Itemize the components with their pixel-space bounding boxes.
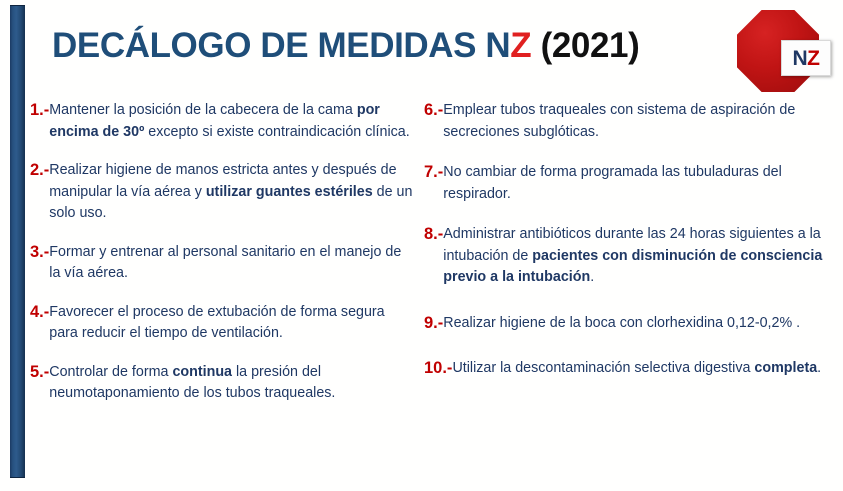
measure-item: 4.-Favorecer el proceso de extubación de… bbox=[30, 302, 415, 345]
measure-text: No cambiar de forma programada las tubul… bbox=[443, 162, 832, 205]
measure-text-plain: . bbox=[590, 269, 594, 285]
measure-text: Formar y entrenar al personal sanitario … bbox=[49, 242, 415, 285]
measure-text: Mantener la posición de la cabecera de l… bbox=[49, 100, 415, 143]
page-title: DECÁLOGO DE MEDIDAS NZ (2021) bbox=[52, 26, 639, 66]
measure-number: 7.- bbox=[424, 162, 443, 183]
measure-text-plain: Favorecer el proceso de extubación de fo… bbox=[49, 304, 384, 342]
measure-text-plain: Realizar higiene de la boca con clorhexi… bbox=[443, 315, 800, 331]
measure-number: 10.- bbox=[424, 358, 452, 379]
measure-number: 2.- bbox=[30, 160, 49, 181]
measures-column-left: 1.-Mantener la posición de la cabecera d… bbox=[30, 100, 415, 405]
measure-text-emphasis: utilizar guantes estériles bbox=[206, 184, 373, 200]
slide-canvas: DECÁLOGO DE MEDIDAS NZ (2021) NZ 1.-Mant… bbox=[0, 0, 843, 491]
measure-item: 2.-Realizar higiene de manos estricta an… bbox=[30, 160, 415, 225]
measure-item: 7.-No cambiar de forma programada las tu… bbox=[424, 162, 832, 205]
measure-text-plain: Controlar de forma bbox=[49, 364, 172, 380]
nz-logo-plaque: NZ bbox=[781, 40, 831, 76]
measure-text-plain: Mantener la posición de la cabecera de l… bbox=[49, 102, 357, 118]
measure-item: 10.-Utilizar la descontaminación selecti… bbox=[424, 358, 832, 380]
measure-item: 6.-Emplear tubos traqueales con sistema … bbox=[424, 100, 832, 143]
measure-text: Favorecer el proceso de extubación de fo… bbox=[49, 302, 415, 345]
measure-text-plain: Utilizar la descontaminación selectiva d… bbox=[452, 360, 754, 376]
page-title-red-letter: Z bbox=[510, 26, 531, 65]
left-accent-bar bbox=[10, 5, 25, 478]
measure-number: 1.- bbox=[30, 100, 49, 121]
page-title-navy-part: DECÁLOGO DE MEDIDAS N bbox=[52, 26, 510, 65]
nz-logo-letter-z: Z bbox=[807, 47, 819, 70]
measure-text: Realizar higiene de la boca con clorhexi… bbox=[443, 313, 800, 335]
measure-text: Realizar higiene de manos estricta antes… bbox=[49, 160, 415, 225]
nz-logo-letter-n: N bbox=[793, 47, 808, 70]
measure-text: Controlar de forma continua la presión d… bbox=[49, 362, 415, 405]
measure-number: 3.- bbox=[30, 242, 49, 263]
measure-number: 5.- bbox=[30, 362, 49, 383]
measure-text-plain: excepto si existe contraindicación clíni… bbox=[144, 124, 409, 140]
measure-text-plain: . bbox=[817, 360, 821, 376]
measure-item: 8.-Administrar antibióticos durante las … bbox=[424, 224, 832, 289]
measure-text-emphasis: continua bbox=[172, 364, 232, 380]
measure-item: 1.-Mantener la posición de la cabecera d… bbox=[30, 100, 415, 143]
measure-item: 5.-Controlar de forma continua la presió… bbox=[30, 362, 415, 405]
measure-number: 4.- bbox=[30, 302, 49, 323]
measure-text-emphasis: completa bbox=[754, 360, 817, 376]
measure-text-plain: Formar y entrenar al personal sanitario … bbox=[49, 244, 401, 282]
measures-column-right: 6.-Emplear tubos traqueales con sistema … bbox=[424, 100, 832, 380]
page-title-year: (2021) bbox=[531, 26, 639, 65]
measure-text: Administrar antibióticos durante las 24 … bbox=[443, 224, 832, 289]
measure-number: 8.- bbox=[424, 224, 443, 245]
nz-logo-text: NZ bbox=[793, 48, 820, 69]
measure-item: 9.-Realizar higiene de la boca con clorh… bbox=[424, 313, 832, 335]
nz-logo: NZ bbox=[735, 8, 831, 104]
measure-text: Emplear tubos traqueales con sistema de … bbox=[443, 100, 832, 143]
measure-number: 9.- bbox=[424, 313, 443, 334]
measure-text-plain: No cambiar de forma programada las tubul… bbox=[443, 164, 782, 202]
measure-text: Utilizar la descontaminación selectiva d… bbox=[452, 358, 821, 380]
measure-item: 3.-Formar y entrenar al personal sanitar… bbox=[30, 242, 415, 285]
measure-text-plain: Emplear tubos traqueales con sistema de … bbox=[443, 102, 795, 140]
measure-number: 6.- bbox=[424, 100, 443, 121]
